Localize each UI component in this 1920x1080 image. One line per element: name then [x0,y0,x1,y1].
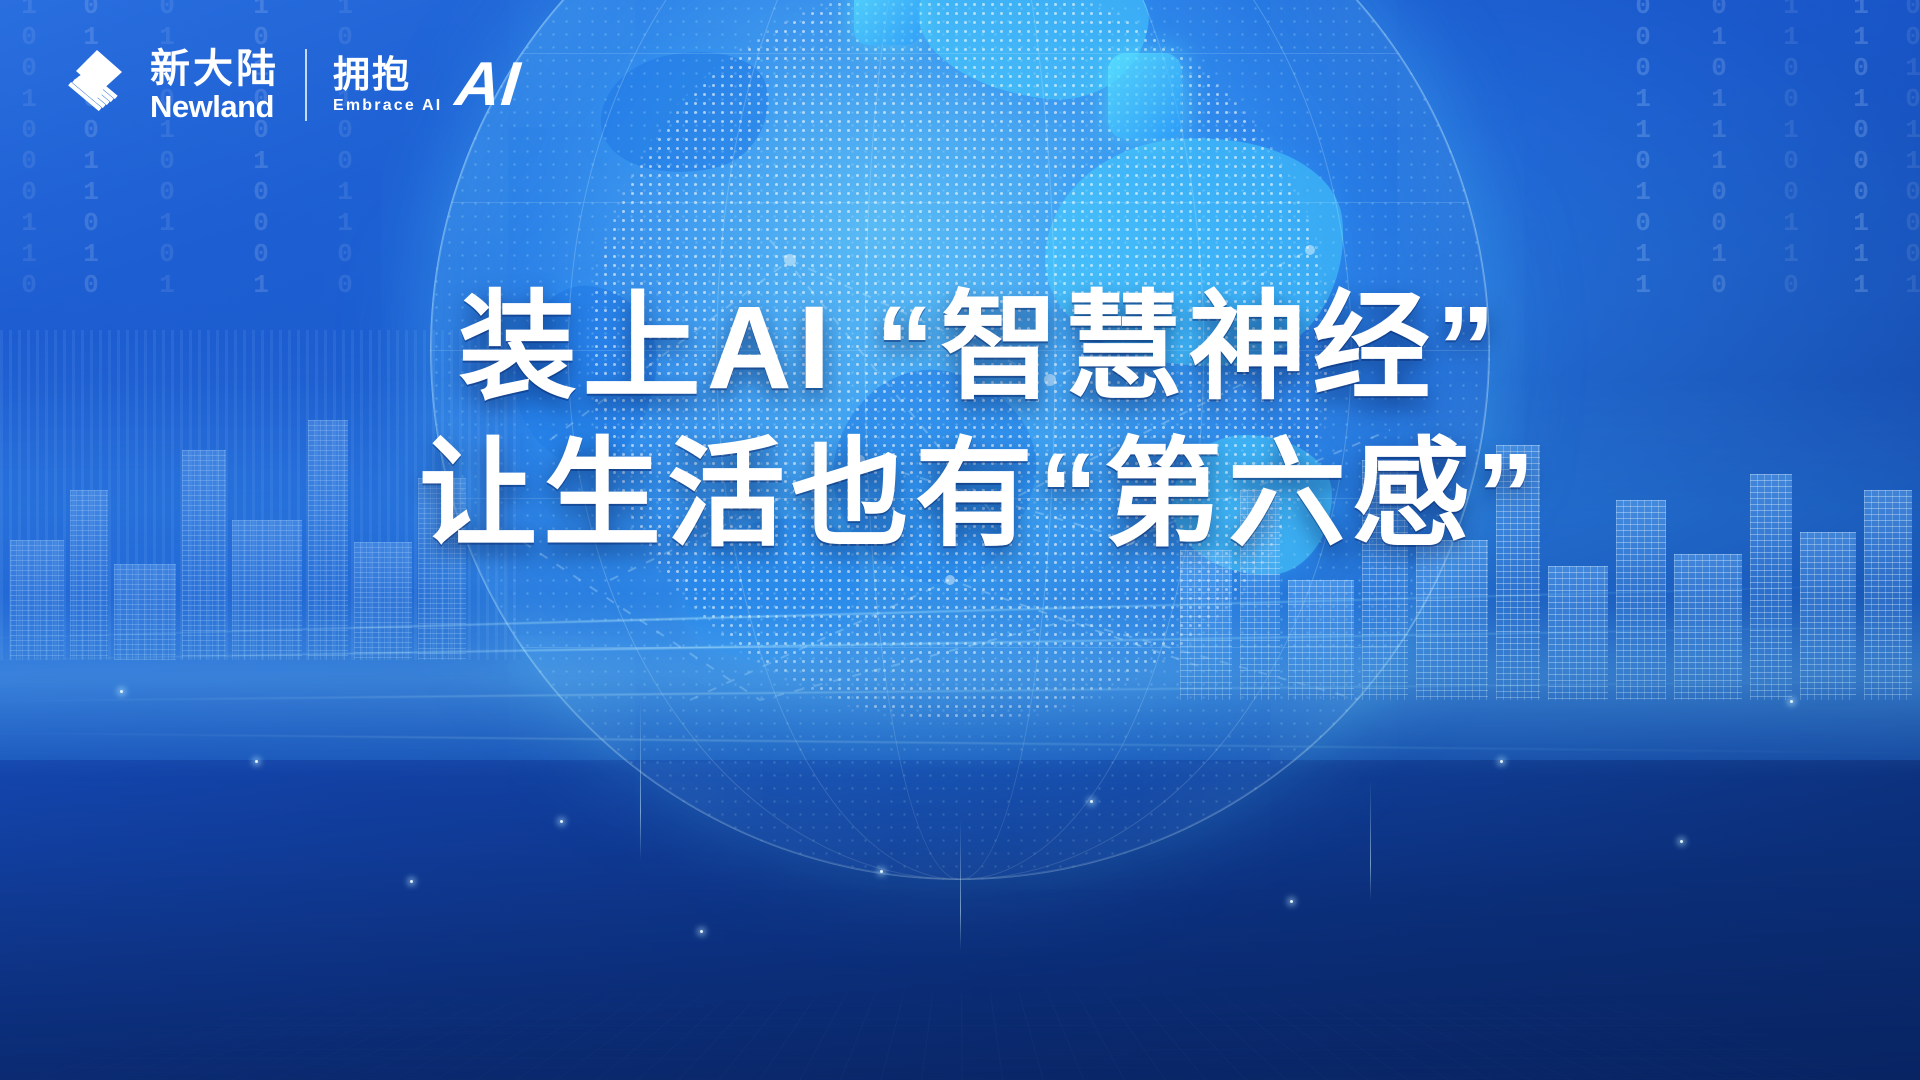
headline-line-1: 装上AI “智慧神经” [40,286,1920,411]
lockup-divider [305,49,307,121]
tagline-cn: 拥抱 [333,56,442,93]
light-particle [1680,840,1683,843]
light-particle [410,880,413,883]
binary-column: 00101110010 [1704,0,1734,301]
binary-column: 00110100101 [152,0,182,301]
light-particle [700,930,703,933]
light-particle [1090,800,1093,803]
newland-logo[interactable]: 新大陆 Newland [60,48,279,122]
tagline-en: Embrace AI [333,98,442,114]
brand-lockup[interactable]: 新大陆 Newland 拥抱 Embrace AI AI [60,48,520,122]
binary-column: 10001101011 [1628,0,1658,301]
falling-light [1370,780,1371,900]
light-particle [1290,900,1293,903]
binary-column: 01001000110 [14,0,44,301]
binary-column: 10010110001 [1898,0,1920,301]
binary-column: 10100011010 [76,0,106,301]
falling-light [960,820,961,950]
light-particle [560,820,563,823]
light-particle [255,760,258,763]
falling-light [640,700,641,860]
binary-column: 01101000111 [1846,0,1876,301]
embrace-ai-lockup[interactable]: 拥抱 Embrace AI AI [333,56,520,114]
poster-canvas: 01001000110 10100011010 00110100101 1101… [0,0,1920,1080]
binary-column: 11100100110 [1776,0,1806,301]
brand-name-en: Newland [150,91,279,122]
light-particle [880,870,883,873]
light-particle [1790,700,1793,703]
newland-diamond-icon [60,48,134,122]
binary-column: 01011001100 [330,0,360,301]
brand-name-cn: 新大陆 [150,49,279,89]
light-particle [120,690,123,693]
tagline-ai-wordmark: AI [454,57,524,113]
light-particle [1500,760,1503,763]
newland-wordmark: 新大陆 Newland [150,49,279,122]
headline-line-2: 让生活也有“第六感” [40,433,1920,558]
binary-column: 11010010001 [246,0,276,301]
headline-block: 装上AI “智慧神经” 让生活也有“第六感” [0,286,1920,558]
